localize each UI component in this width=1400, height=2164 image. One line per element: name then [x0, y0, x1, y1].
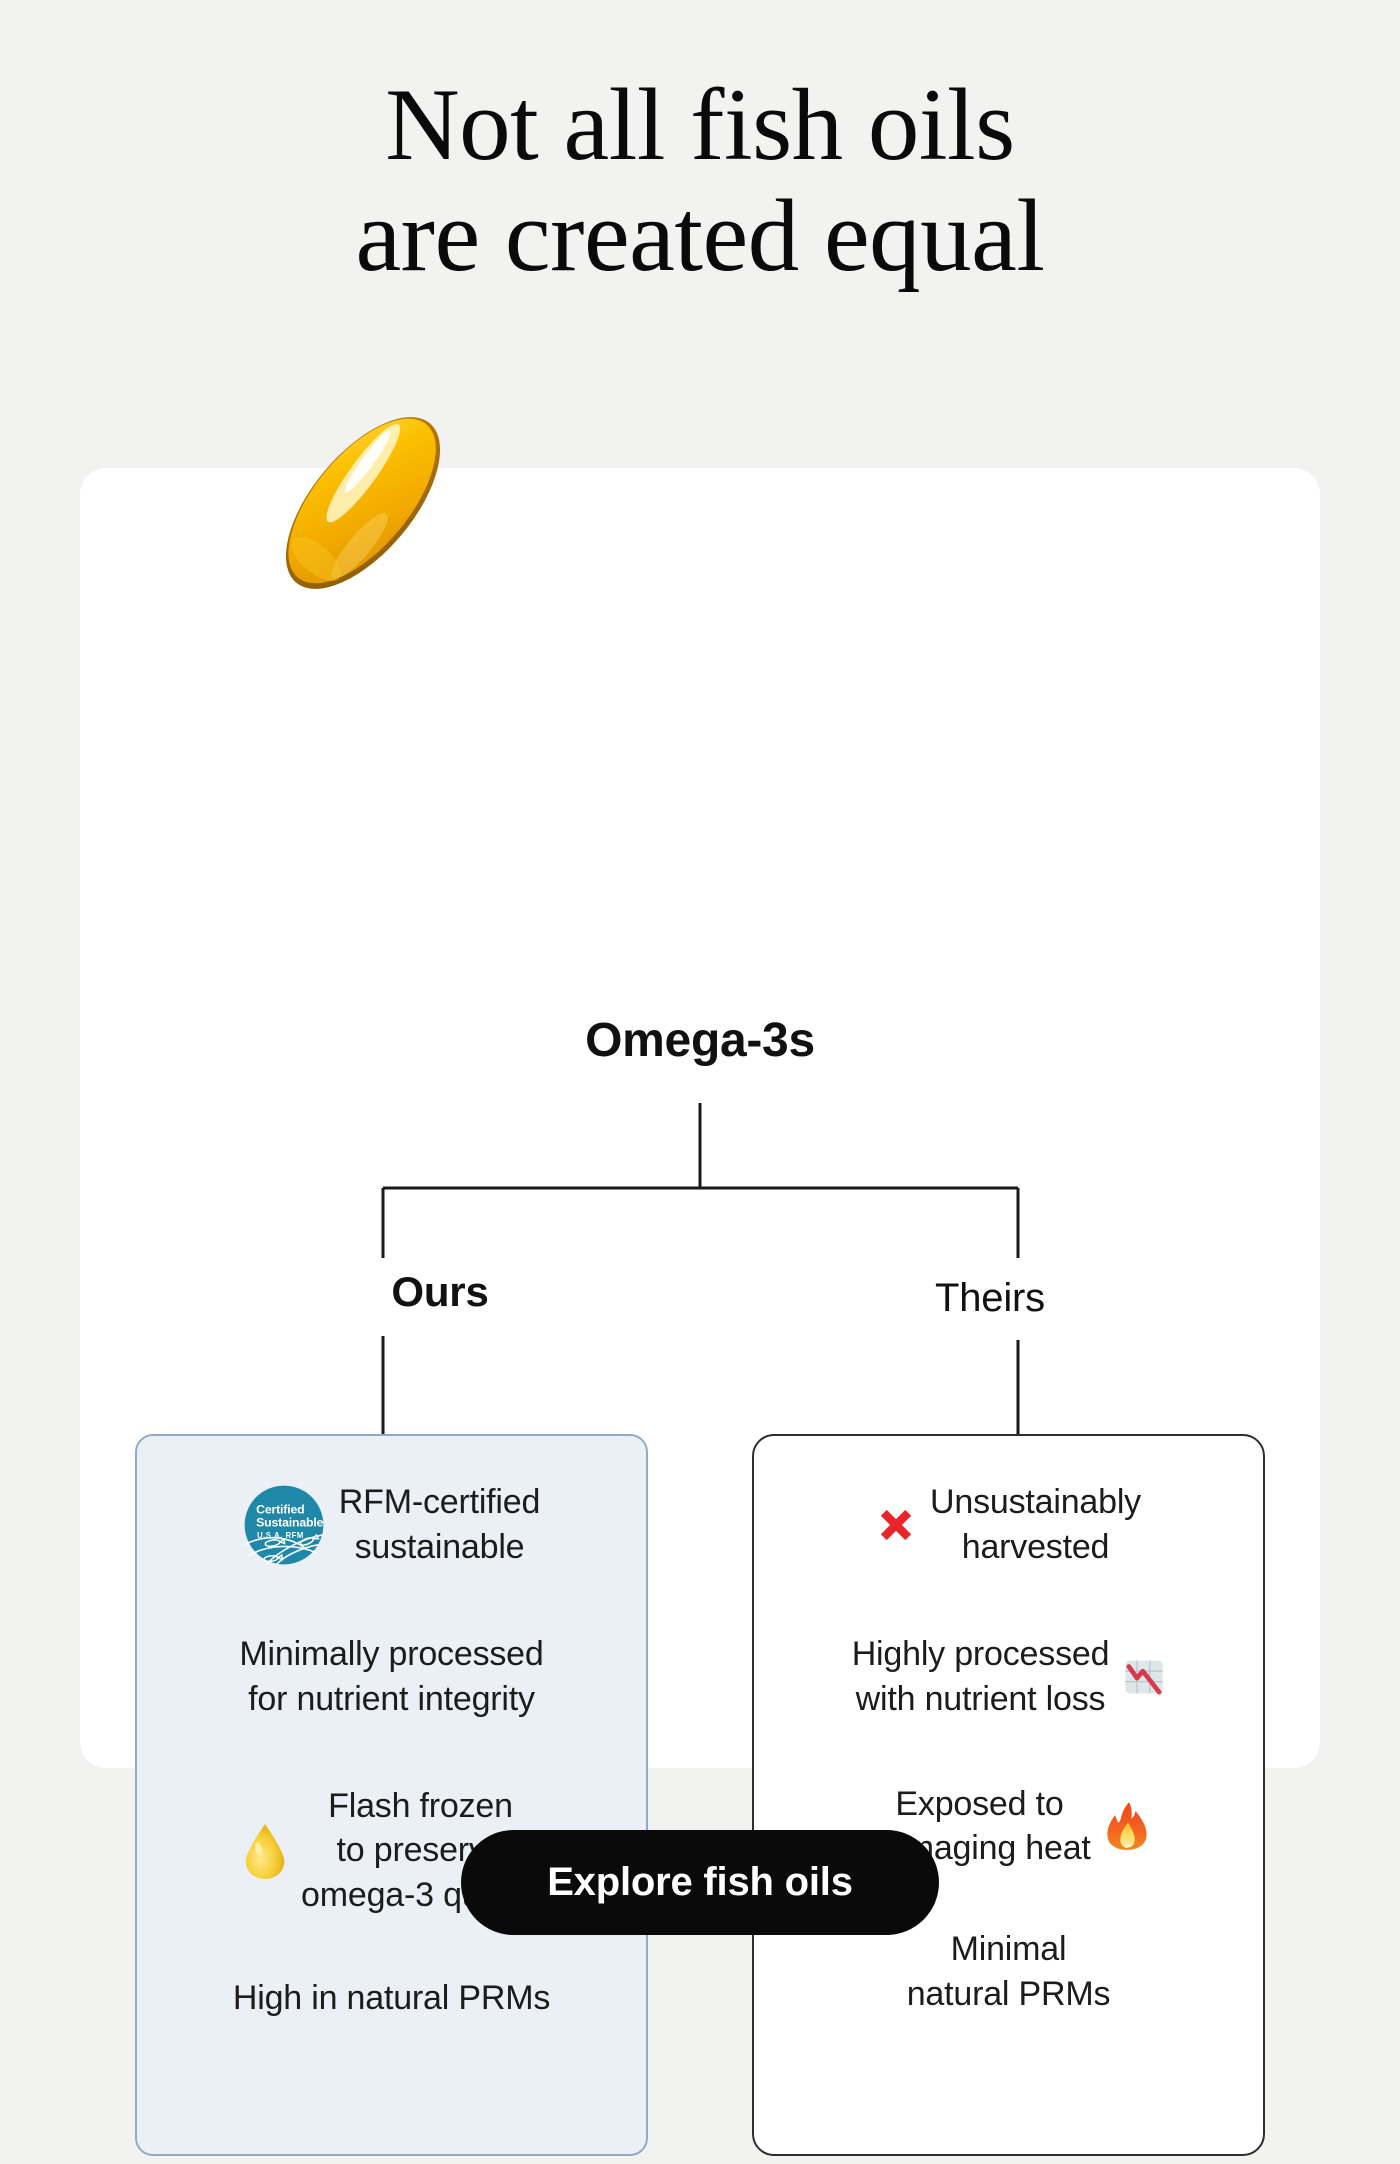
theirs-item-highly-processed: Highly processed with nutrient loss: [852, 1632, 1166, 1722]
svg-text:Sustainable: Sustainable: [256, 1516, 324, 1530]
theirs-item-unsustainably-harvested: Unsustainably harvested: [876, 1480, 1141, 1570]
theirs-item-minimal-prms: Minimal natural PRMs: [907, 1927, 1111, 2017]
theirs-item-highly-processed-line-2: with nutrient loss: [852, 1677, 1110, 1722]
cross-mark-icon: [876, 1505, 916, 1545]
theirs-item-highly-processed-line-1: Highly processed: [852, 1632, 1110, 1677]
ours-item-rfm-line-2: sustainable: [339, 1525, 540, 1570]
ours-item-minimally-processed-label: Minimally processed for nutrient integri…: [239, 1632, 543, 1722]
ours-item-rfm-line-1: RFM-certified: [339, 1480, 540, 1525]
ours-item-minimally-processed: Minimally processed for nutrient integri…: [239, 1632, 543, 1722]
svg-text:Certified: Certified: [256, 1502, 304, 1516]
theirs-item-unsustainably-harvested-label: Unsustainably harvested: [930, 1480, 1141, 1570]
rfm-certified-sustainable-badge-icon: Certified Sustainable U.S.A. RFM: [243, 1484, 325, 1566]
page-title-line-1: Not all fish oils: [0, 70, 1400, 181]
ours-item-rfm-certified-label: RFM-certified sustainable: [339, 1480, 540, 1570]
page-title-line-2: are created equal: [0, 181, 1400, 292]
theirs-drawbacks-card: Unsustainably harvested Highly processed…: [752, 1434, 1265, 2156]
comparison-cards: Certified Sustainable U.S.A. RFM: [80, 1434, 1320, 2164]
ours-item-flash-frozen-line-1: Flash frozen: [301, 1784, 540, 1829]
ours-benefits-card: Certified Sustainable U.S.A. RFM: [135, 1434, 648, 2156]
theirs-item-unsustainably-line-2: harvested: [930, 1525, 1141, 1570]
explore-fish-oils-button[interactable]: Explore fish oils: [461, 1830, 939, 1935]
ours-item-high-prms-label: High in natural PRMs: [233, 1976, 550, 2021]
theirs-item-unsustainably-line-1: Unsustainably: [930, 1480, 1141, 1525]
ours-item-minimally-processed-line-2: for nutrient integrity: [239, 1677, 543, 1722]
chart-decreasing-icon: [1123, 1656, 1165, 1698]
branch-label-ours: Ours: [330, 1268, 550, 1316]
theirs-item-minimal-prms-label: Minimal natural PRMs: [907, 1927, 1111, 2017]
theirs-item-highly-processed-label: Highly processed with nutrient loss: [852, 1632, 1110, 1722]
ours-item-high-prms: High in natural PRMs: [233, 1976, 550, 2021]
theirs-item-minimal-prms-line-2: natural PRMs: [907, 1972, 1111, 2017]
comparison-panel: Omega-3s Ours Theirs: [80, 468, 1320, 1768]
page-title: Not all fish oils are created equal: [0, 0, 1400, 292]
theirs-item-damaging-heat-line-1: Exposed to: [868, 1782, 1090, 1827]
ours-item-rfm-certified: Certified Sustainable U.S.A. RFM: [243, 1480, 540, 1570]
ours-item-minimally-processed-line-1: Minimally processed: [239, 1632, 543, 1677]
cta-container: Explore fish oils: [0, 1830, 1400, 1935]
branch-label-theirs: Theirs: [880, 1276, 1100, 1321]
